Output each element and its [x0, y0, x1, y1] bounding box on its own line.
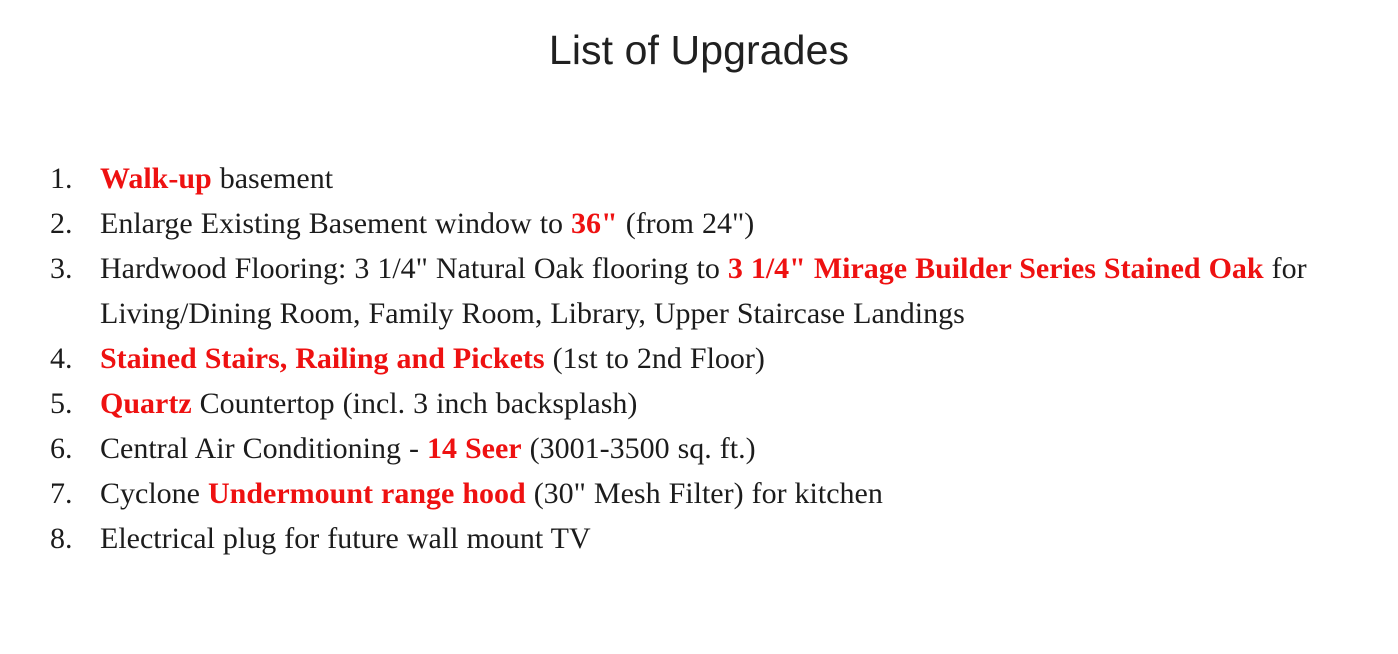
list-item-number: 5. — [50, 381, 90, 426]
document-page: List of Upgrades 1.Walk-up basement2.Enl… — [0, 0, 1398, 654]
list-item: 1.Walk-up basement — [50, 156, 1320, 201]
body-text: (1st to 2nd Floor) — [545, 342, 765, 375]
list-item: 6.Central Air Conditioning - 14 Seer (30… — [50, 426, 1320, 471]
highlighted-text: Stained Stairs, Railing and Pickets — [100, 342, 545, 375]
list-item: 3.Hardwood Flooring: 3 1/4" Natural Oak … — [50, 246, 1320, 336]
body-text: Central Air Conditioning - — [100, 432, 427, 465]
body-text: (30" Mesh Filter) for kitchen — [526, 477, 883, 510]
list-item-text: Central Air Conditioning - 14 Seer (3001… — [100, 426, 1320, 471]
body-text: basement — [212, 162, 333, 195]
list-item-text: Enlarge Existing Basement window to 36" … — [100, 201, 1320, 246]
list-item-text: Electrical plug for future wall mount TV — [100, 516, 1320, 561]
list-item: 8.Electrical plug for future wall mount … — [50, 516, 1320, 561]
highlighted-text: Undermount range hood — [208, 477, 526, 510]
body-text: Cyclone — [100, 477, 208, 510]
list-item-text: Hardwood Flooring: 3 1/4" Natural Oak fl… — [100, 246, 1320, 336]
list-item-number: 7. — [50, 471, 90, 516]
list-item: 4.Stained Stairs, Railing and Pickets (1… — [50, 336, 1320, 381]
list-item: 7.Cyclone Undermount range hood (30" Mes… — [50, 471, 1320, 516]
body-text: Electrical plug for future wall mount TV — [100, 522, 591, 555]
body-text: Countertop (incl. 3 inch backsplash) — [192, 387, 638, 420]
body-text: (from 24") — [618, 207, 755, 240]
highlighted-text: Walk-up — [100, 162, 212, 195]
list-item-number: 6. — [50, 426, 90, 471]
list-item-number: 4. — [50, 336, 90, 381]
list-item-number: 2. — [50, 201, 90, 246]
list-item-number: 1. — [50, 156, 90, 201]
highlighted-text: 36" — [571, 207, 618, 240]
page-title: List of Upgrades — [0, 26, 1398, 74]
highlighted-text: Quartz — [100, 387, 192, 420]
body-text: (3001-3500 sq. ft.) — [522, 432, 756, 465]
list-item-text: Stained Stairs, Railing and Pickets (1st… — [100, 336, 1320, 381]
list-item: 5.Quartz Countertop (incl. 3 inch backsp… — [50, 381, 1320, 426]
list-item-text: Quartz Countertop (incl. 3 inch backspla… — [100, 381, 1320, 426]
list-item-text: Walk-up basement — [100, 156, 1320, 201]
body-text: Hardwood Flooring: 3 1/4" Natural Oak fl… — [100, 252, 728, 285]
upgrades-list: 1.Walk-up basement2.Enlarge Existing Bas… — [50, 156, 1320, 561]
highlighted-text: 14 Seer — [427, 432, 522, 465]
body-text: Enlarge Existing Basement window to — [100, 207, 571, 240]
list-item-text: Cyclone Undermount range hood (30" Mesh … — [100, 471, 1320, 516]
list-item-number: 8. — [50, 516, 90, 561]
list-item-number: 3. — [50, 246, 90, 291]
highlighted-text: 3 1/4" Mirage Builder Series Stained Oak — [728, 252, 1264, 285]
list-item: 2.Enlarge Existing Basement window to 36… — [50, 201, 1320, 246]
